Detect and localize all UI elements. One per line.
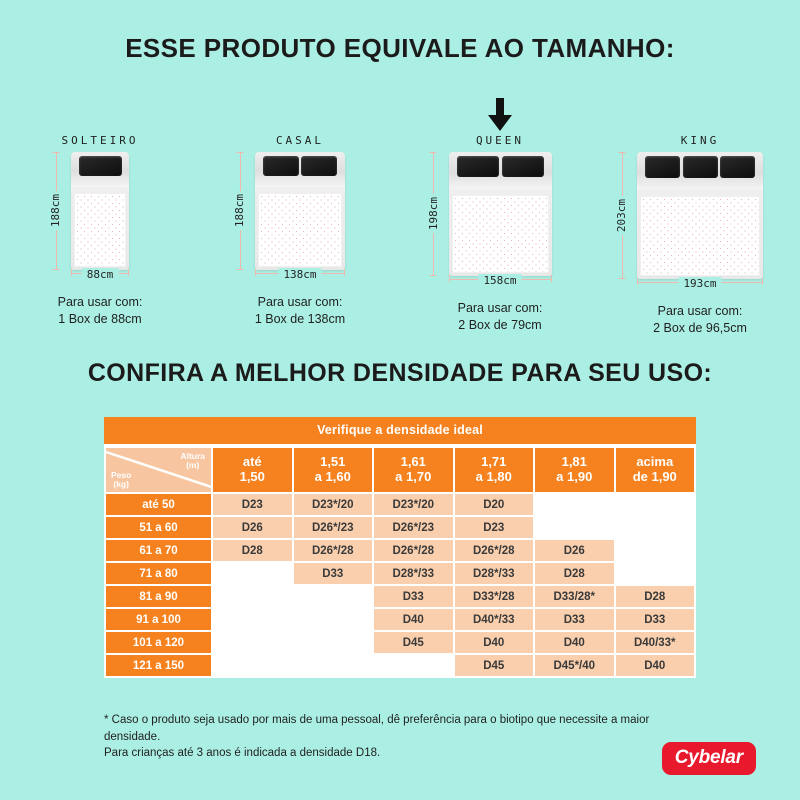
dimension-height-label: 188cm <box>49 191 62 230</box>
column-header-line-2: a 1,90 <box>556 469 592 484</box>
table-row: 61 a 70D28D26*/28D26*/28D26*/28D26 <box>106 540 694 561</box>
bed-caption-line-2: 2 Box de 79cm <box>458 317 543 334</box>
density-cell <box>294 586 373 607</box>
density-cell: D28*/33 <box>455 563 534 584</box>
bed-figure: 198cm <box>449 152 552 276</box>
bed-caption-line-1: Para usar com: <box>458 300 543 317</box>
density-cell: D26*/23 <box>294 517 373 538</box>
bed-card-queen: QUEEN198cm158cmPara usar com:2 Box de 79… <box>413 98 588 334</box>
density-cell: D28*/33 <box>374 563 453 584</box>
density-table-header-row: Altura (m) Peso (kg) até1,501,51a 1,601,… <box>106 448 694 492</box>
highlight-arrow-slot <box>13 98 188 134</box>
axis-label-altura: Altura (m) <box>180 452 205 470</box>
table-row: 91 a 100D40D40*/33D33D33 <box>106 609 694 630</box>
dimension-height-label: 188cm <box>233 191 246 230</box>
density-cell: D28 <box>535 563 614 584</box>
density-cell <box>213 632 292 653</box>
pillow <box>263 156 299 176</box>
bed-figure: 203cm <box>637 152 763 279</box>
density-cell: D23*/20 <box>294 494 373 515</box>
density-cell: D26*/23 <box>374 517 453 538</box>
table-row: 81 a 90D33D33*/28D33/28*D28 <box>106 586 694 607</box>
row-header-weight: 71 a 80 <box>106 563 211 584</box>
density-table-body: até 50D23D23*/20D23*/20D2051 a 60D26D26*… <box>106 494 694 676</box>
dimension-width-label: 88cm <box>82 268 119 281</box>
bed-name-label: KING <box>681 134 720 147</box>
footnote: * Caso o produto seja usado por mais de … <box>104 712 704 762</box>
pillow <box>720 156 755 178</box>
axis-label-peso-line2: (kg) <box>113 479 129 489</box>
density-cell: D33/28* <box>535 586 614 607</box>
dimension-width: 193cm <box>637 281 763 299</box>
density-cell <box>294 609 373 630</box>
pillow <box>683 156 718 178</box>
bed-caption-line-1: Para usar com: <box>653 303 747 320</box>
mattress-surface <box>640 196 760 276</box>
density-cell: D33 <box>294 563 373 584</box>
dimension-width-label: 138cm <box>278 268 321 281</box>
table-row: 51 a 60D26D26*/23D26*/23D23 <box>106 517 694 538</box>
dimension-height: 198cm <box>427 152 440 276</box>
column-header-line-2: a 1,80 <box>476 469 512 484</box>
bed-caption: Para usar com:2 Box de 96,5cm <box>653 303 747 337</box>
table-row: até 50D23D23*/20D23*/20D20 <box>106 494 694 515</box>
bed-caption-line-1: Para usar com: <box>255 294 345 311</box>
density-cell <box>213 563 292 584</box>
density-cell: D23 <box>213 494 292 515</box>
density-cell <box>535 494 614 515</box>
density-cell <box>616 563 695 584</box>
mattress-surface <box>74 193 126 267</box>
density-cell: D45 <box>455 655 534 676</box>
pillow-group <box>449 156 552 177</box>
density-cell <box>294 655 373 676</box>
dimension-height-label: 198cm <box>427 194 440 233</box>
column-header-line-1: 1,61 <box>401 454 426 469</box>
bed-card-casal: CASAL188cm138cmPara usar com:1 Box de 13… <box>213 98 388 328</box>
bed-illustration <box>71 152 129 270</box>
bed-caption: Para usar com:2 Box de 79cm <box>458 300 543 334</box>
mattress-surface <box>258 193 342 267</box>
mattress-surface <box>452 195 549 273</box>
row-header-weight: 101 a 120 <box>106 632 211 653</box>
density-cell: D26*/28 <box>455 540 534 561</box>
dimension-width: 158cm <box>449 278 552 296</box>
density-cell: D28 <box>616 586 695 607</box>
density-cell <box>213 655 292 676</box>
density-cell: D40 <box>455 632 534 653</box>
density-cell: D33 <box>374 586 453 607</box>
density-cell: D33 <box>616 609 695 630</box>
bed-caption-line-2: 1 Box de 138cm <box>255 311 345 328</box>
density-cell: D40 <box>616 655 695 676</box>
axis-label-peso: Peso (kg) <box>111 471 131 489</box>
density-cell: D33 <box>535 609 614 630</box>
column-header-line-2: a 1,60 <box>315 469 351 484</box>
bed-name-label: CASAL <box>276 134 324 147</box>
column-header-line-1: 1,71 <box>481 454 506 469</box>
density-cell <box>213 586 292 607</box>
density-cell <box>294 632 373 653</box>
density-cell: D45*/40 <box>535 655 614 676</box>
bed-caption-line-2: 1 Box de 88cm <box>58 311 143 328</box>
highlight-arrow-slot <box>613 98 788 134</box>
dimension-width: 138cm <box>255 272 345 290</box>
row-header-weight: até 50 <box>106 494 211 515</box>
row-header-weight: 91 a 100 <box>106 609 211 630</box>
column-header-line-2: 1,50 <box>240 469 265 484</box>
density-cell: D20 <box>455 494 534 515</box>
cybelar-logo: Cybelar <box>662 742 756 775</box>
density-cell: D28 <box>213 540 292 561</box>
density-cell: D40*/33 <box>455 609 534 630</box>
column-header-line-1: 1,81 <box>562 454 587 469</box>
row-header-weight: 51 a 60 <box>106 517 211 538</box>
dimension-height-label: 203cm <box>615 196 628 235</box>
pillow <box>645 156 680 178</box>
page-title-density: CONFIRA A MELHOR DENSIDADE PARA SEU USO: <box>0 359 800 388</box>
dimension-height: 188cm <box>233 152 246 270</box>
column-header-4: 1,81a 1,90 <box>535 448 614 492</box>
bed-illustration <box>637 152 763 279</box>
dimension-width-label: 193cm <box>678 277 721 290</box>
pillow-group <box>71 156 129 176</box>
highlight-arrow-slot <box>213 98 388 134</box>
bed-figure: 188cm <box>71 152 129 270</box>
density-cell: D45 <box>374 632 453 653</box>
bed-name-label: SOLTEIRO <box>62 134 139 147</box>
density-cell <box>616 540 695 561</box>
density-cell: D40 <box>374 609 453 630</box>
pillow-group <box>255 156 345 176</box>
column-header-1: 1,51a 1,60 <box>294 448 373 492</box>
column-header-line-2: de 1,90 <box>633 469 677 484</box>
density-cell <box>616 517 695 538</box>
density-cell <box>374 655 453 676</box>
density-cell <box>213 609 292 630</box>
density-cell <box>535 517 614 538</box>
pillow-group <box>637 156 763 178</box>
down-arrow-icon <box>485 98 515 132</box>
dimension-width-label: 158cm <box>478 274 521 287</box>
highlight-arrow-slot <box>413 98 588 134</box>
column-header-line-1: acima <box>636 454 673 469</box>
pillow <box>79 156 122 176</box>
row-header-weight: 61 a 70 <box>106 540 211 561</box>
axis-corner-cell: Altura (m) Peso (kg) <box>106 448 211 492</box>
bed-illustration <box>255 152 345 270</box>
row-header-weight: 121 a 150 <box>106 655 211 676</box>
pillow <box>457 156 499 177</box>
row-header-weight: 81 a 90 <box>106 586 211 607</box>
table-row: 71 a 80D33D28*/33D28*/33D28 <box>106 563 694 584</box>
axis-label-altura-line2: (m) <box>186 460 199 470</box>
column-header-line-2: a 1,70 <box>395 469 431 484</box>
bed-illustration <box>449 152 552 276</box>
density-cell: D33*/28 <box>455 586 534 607</box>
density-cell <box>616 494 695 515</box>
column-header-3: 1,71a 1,80 <box>455 448 534 492</box>
column-header-line-1: até <box>243 454 262 469</box>
density-table-panel: Verifique a densidade ideal Altura (m) P… <box>104 417 696 678</box>
bed-caption: Para usar com:1 Box de 88cm <box>58 294 143 328</box>
bed-caption-line-2: 2 Box de 96,5cm <box>653 320 747 337</box>
dimension-width: 88cm <box>71 272 129 290</box>
density-cell: D26*/28 <box>374 540 453 561</box>
density-cell: D40 <box>535 632 614 653</box>
bed-size-comparison: SOLTEIRO188cm88cmPara usar com:1 Box de … <box>0 98 800 338</box>
bed-caption-line-1: Para usar com: <box>58 294 143 311</box>
dimension-height: 188cm <box>49 152 62 270</box>
column-header-0: até1,50 <box>213 448 292 492</box>
density-table: Altura (m) Peso (kg) até1,501,51a 1,601,… <box>104 446 696 678</box>
dimension-height: 203cm <box>615 152 628 279</box>
bed-name-label: QUEEN <box>476 134 524 147</box>
density-cell: D26 <box>535 540 614 561</box>
density-table-title: Verifique a densidade ideal <box>104 417 696 446</box>
bed-figure: 188cm <box>255 152 345 270</box>
page-title-sizes: ESSE PRODUTO EQUIVALE AO TAMANHO: <box>0 33 800 64</box>
density-cell: D40/33* <box>616 632 695 653</box>
bed-caption: Para usar com:1 Box de 138cm <box>255 294 345 328</box>
footnote-line-1: * Caso o produto seja usado por mais de … <box>104 712 704 745</box>
column-header-2: 1,61a 1,70 <box>374 448 453 492</box>
table-row: 101 a 120D45D40D40D40/33* <box>106 632 694 653</box>
density-cell: D23*/20 <box>374 494 453 515</box>
pillow <box>502 156 544 177</box>
bed-card-solteiro: SOLTEIRO188cm88cmPara usar com:1 Box de … <box>13 98 188 328</box>
density-table-head: Altura (m) Peso (kg) até1,501,51a 1,601,… <box>106 448 694 492</box>
density-cell: D23 <box>455 517 534 538</box>
bed-card-king: KING203cm193cmPara usar com:2 Box de 96,… <box>613 98 788 337</box>
density-cell: D26*/28 <box>294 540 373 561</box>
density-cell: D26 <box>213 517 292 538</box>
column-header-5: acimade 1,90 <box>616 448 695 492</box>
pillow <box>301 156 337 176</box>
footnote-line-2: Para crianças até 3 anos é indicada a de… <box>104 745 704 762</box>
table-row: 121 a 150D45D45*/40D40 <box>106 655 694 676</box>
column-header-line-1: 1,51 <box>320 454 345 469</box>
